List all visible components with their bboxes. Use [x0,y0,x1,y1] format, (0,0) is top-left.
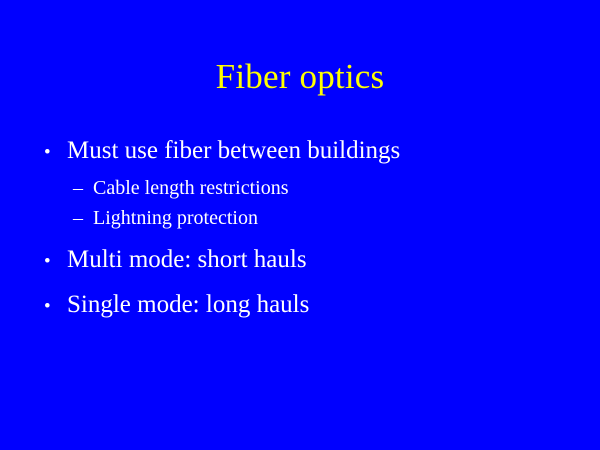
presentation-slide: Fiber optics • Must use fiber between bu… [0,0,600,450]
bullet-item: • Single mode: long hauls [40,287,570,325]
bullet-marker-icon: • [40,289,67,325]
slide-body: • Must use fiber between buildings – Cab… [40,133,570,327]
bullet-marker-icon: • [40,244,67,280]
sub-bullet-item: – Cable length restrictions [73,173,570,203]
sub-bullet-text: Lightning protection [93,203,258,233]
dash-marker-icon: – [73,203,93,233]
sub-bullet-group: – Cable length restrictions – Lightning … [40,173,570,233]
sub-bullet-text: Cable length restrictions [93,173,289,203]
bullet-marker-icon: • [40,135,67,171]
sub-bullet-item: – Lightning protection [73,203,570,233]
bullet-item: • Multi mode: short hauls [40,242,570,280]
bullet-text: Must use fiber between buildings [67,133,400,169]
dash-marker-icon: – [73,173,93,203]
bullet-text: Multi mode: short hauls [67,242,307,278]
slide-title: Fiber optics [0,56,600,98]
bullet-item: • Must use fiber between buildings [40,133,570,171]
bullet-text: Single mode: long hauls [67,287,309,323]
